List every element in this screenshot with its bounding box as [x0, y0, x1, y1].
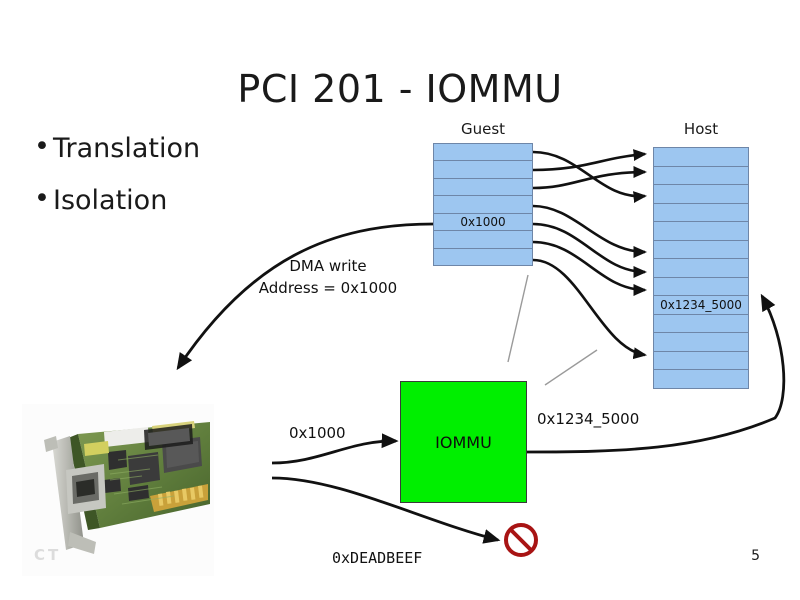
page-title: PCI 201 - IOMMU — [0, 67, 800, 111]
table-row: 0x1000 — [434, 214, 532, 231]
table-row — [654, 352, 748, 371]
table-row — [434, 249, 532, 265]
guest-address-input-label: 0x1000 — [289, 424, 346, 442]
device-to-iommu-arrow — [272, 441, 396, 463]
slide-canvas: PCI 201 - IOMMU • Translation • Isolatio… — [0, 0, 800, 600]
host-address-output-label: 0x1234_5000 — [537, 410, 639, 428]
bullet-dot-icon: • — [34, 185, 53, 213]
table-row — [654, 241, 748, 260]
bullet-label: Translation — [53, 133, 200, 164]
guest-host-mapping-arrows — [533, 152, 645, 355]
dma-write-annotation: DMA write Address = 0x1000 — [228, 256, 428, 300]
iommu-label: IOMMU — [435, 433, 492, 452]
dma-write-line2: Address = 0x1000 — [228, 278, 428, 300]
host-memory-table: 0x1234_5000 — [653, 147, 749, 389]
bullet-list: • Translation • Isolation — [34, 133, 294, 237]
pci-network-card-photo: CT — [22, 404, 214, 576]
table-row — [654, 167, 748, 186]
page-number: 5 — [751, 548, 760, 564]
table-row — [654, 204, 748, 223]
table-row: 0x1234_5000 — [654, 296, 748, 315]
table-row — [434, 179, 532, 196]
table-row — [434, 161, 532, 178]
bullet-dot-icon: • — [34, 133, 53, 161]
table-row — [654, 315, 748, 334]
leader-lines — [508, 275, 597, 385]
guest-table-caption: Guest — [433, 120, 533, 138]
dma-write-line1: DMA write — [228, 256, 428, 278]
prohibition-sign-icon — [506, 525, 536, 555]
blocked-address-label: 0xDEADBEEF — [332, 549, 422, 567]
guest-memory-table: 0x1000 — [433, 143, 533, 266]
table-row — [654, 222, 748, 241]
table-row — [654, 148, 748, 167]
list-item: • Translation — [34, 133, 294, 164]
table-row — [434, 196, 532, 213]
photo-watermark: CT — [34, 546, 61, 564]
bullet-label: Isolation — [53, 185, 167, 216]
table-row — [654, 259, 748, 278]
table-row — [654, 333, 748, 352]
host-table-caption: Host — [653, 120, 749, 138]
list-item: • Isolation — [34, 185, 294, 216]
iommu-block: IOMMU — [400, 381, 527, 503]
table-row — [434, 144, 532, 161]
cell-value: 0x1000 — [460, 215, 505, 229]
cell-value: 0x1234_5000 — [660, 298, 742, 312]
table-row — [654, 185, 748, 204]
table-row — [654, 370, 748, 388]
table-row — [654, 278, 748, 297]
table-row — [434, 231, 532, 248]
